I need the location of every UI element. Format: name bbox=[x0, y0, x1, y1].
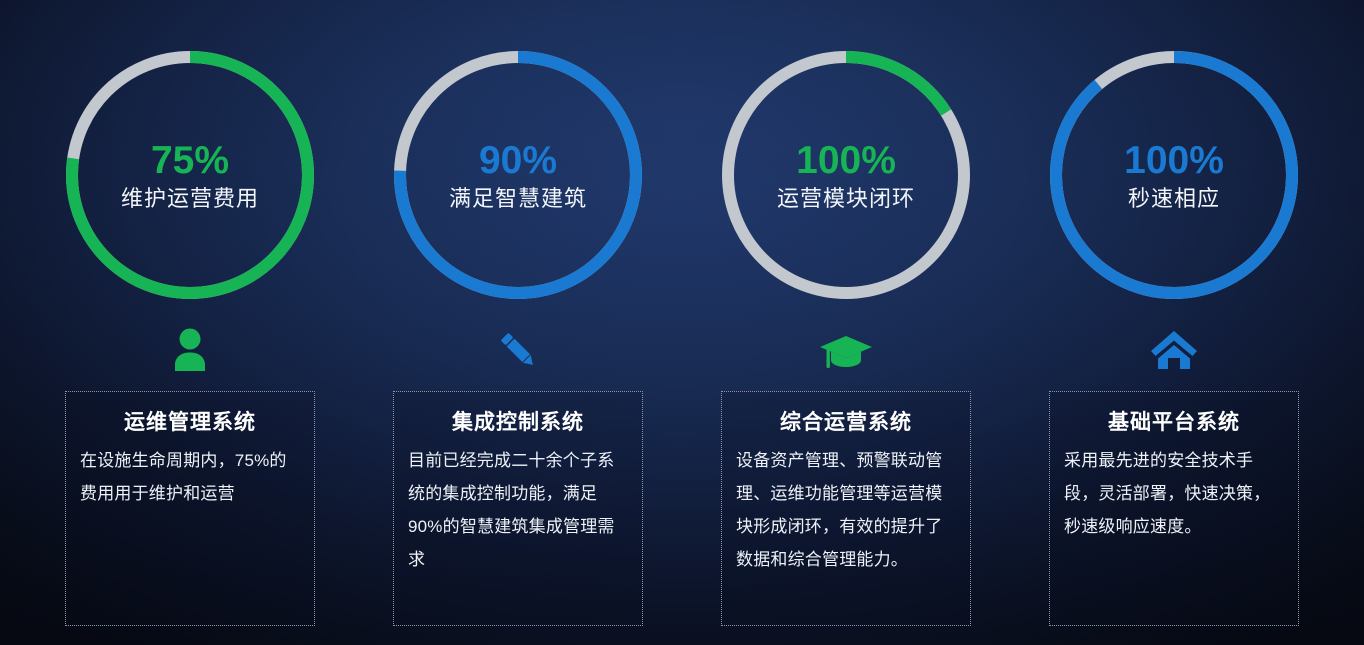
donut-chart-integrated-control: 90% 满足智慧建筑 bbox=[388, 45, 648, 305]
card-title-2: 集成控制系统 bbox=[452, 406, 584, 436]
donut-center-content-2: 90% 满足智慧建筑 bbox=[388, 45, 648, 305]
donut-label-2: 满足智慧建筑 bbox=[449, 188, 587, 210]
icon-slot-2 bbox=[492, 319, 544, 381]
user-icon bbox=[164, 324, 216, 376]
donut-percent-1: 75% bbox=[151, 141, 229, 180]
donut-percent-3: 100% bbox=[796, 141, 896, 180]
metrics-row: 75% 维护运营费用 运维管理系统 在设施生命周期内，75%的费用用于维护和运营 bbox=[0, 0, 1364, 645]
donut-center-content-4: 100% 秒速相应 bbox=[1044, 45, 1304, 305]
system-card-ops-maintenance[interactable]: 运维管理系统 在设施生命周期内，75%的费用用于维护和运营 bbox=[65, 391, 315, 626]
home-icon bbox=[1148, 324, 1200, 376]
slide-canvas: 75% 维护运营费用 运维管理系统 在设施生命周期内，75%的费用用于维护和运营 bbox=[0, 0, 1364, 645]
donut-center-content-3: 100% 运营模块闭环 bbox=[716, 45, 976, 305]
system-card-integrated-control[interactable]: 集成控制系统 目前已经完成二十余个子系统的集成控制功能，满足90%的智慧建筑集成… bbox=[393, 391, 643, 626]
donut-label-3: 运营模块闭环 bbox=[777, 188, 915, 210]
card-title-1: 运维管理系统 bbox=[124, 406, 256, 436]
graduation-cap-icon bbox=[817, 324, 875, 376]
donut-chart-ops-maintenance: 75% 维护运营费用 bbox=[60, 45, 320, 305]
card-body-3: 设备资产管理、预警联动管理、运维功能管理等运营模块形成闭环，有效的提升了数据和综… bbox=[736, 444, 956, 577]
icon-slot-1 bbox=[164, 319, 216, 381]
donut-center-content-1: 75% 维护运营费用 bbox=[60, 45, 320, 305]
metric-column-comprehensive-operations: 100% 运营模块闭环 综合运营系统 设备资产管理、预警联动管理、运维功能管理等… bbox=[696, 0, 996, 626]
card-title-3: 综合运营系统 bbox=[780, 406, 912, 436]
system-card-base-platform[interactable]: 基础平台系统 采用最先进的安全技术手段，灵活部署，快速决策，秒速级响应速度。 bbox=[1049, 391, 1299, 626]
donut-label-1: 维护运营费用 bbox=[121, 188, 259, 210]
card-body-2: 目前已经完成二十余个子系统的集成控制功能，满足90%的智慧建筑集成管理需求 bbox=[408, 444, 628, 577]
icon-slot-3 bbox=[817, 319, 875, 381]
donut-chart-base-platform: 100% 秒速相应 bbox=[1044, 45, 1304, 305]
icon-slot-4 bbox=[1148, 319, 1200, 381]
system-card-comprehensive-operations[interactable]: 综合运营系统 设备资产管理、预警联动管理、运维功能管理等运营模块形成闭环，有效的… bbox=[721, 391, 971, 626]
card-body-1: 在设施生命周期内，75%的费用用于维护和运营 bbox=[80, 444, 300, 510]
card-title-4: 基础平台系统 bbox=[1108, 406, 1240, 436]
metric-column-ops-maintenance: 75% 维护运营费用 运维管理系统 在设施生命周期内，75%的费用用于维护和运营 bbox=[40, 0, 340, 626]
donut-percent-2: 90% bbox=[479, 141, 557, 180]
metric-column-integrated-control: 90% 满足智慧建筑 集成控制系统 目前已经完成二十余个子系统的集成控制功能，满… bbox=[368, 0, 668, 626]
pencil-icon bbox=[492, 324, 544, 376]
donut-label-4: 秒速相应 bbox=[1128, 188, 1220, 210]
donut-chart-comprehensive-operations: 100% 运营模块闭环 bbox=[716, 45, 976, 305]
card-body-4: 采用最先进的安全技术手段，灵活部署，快速决策，秒速级响应速度。 bbox=[1064, 444, 1284, 543]
donut-percent-4: 100% bbox=[1124, 141, 1224, 180]
metric-column-base-platform: 100% 秒速相应 基础平台系统 采用最先进的安全技术手段，灵活部署，快速决策，… bbox=[1024, 0, 1324, 626]
